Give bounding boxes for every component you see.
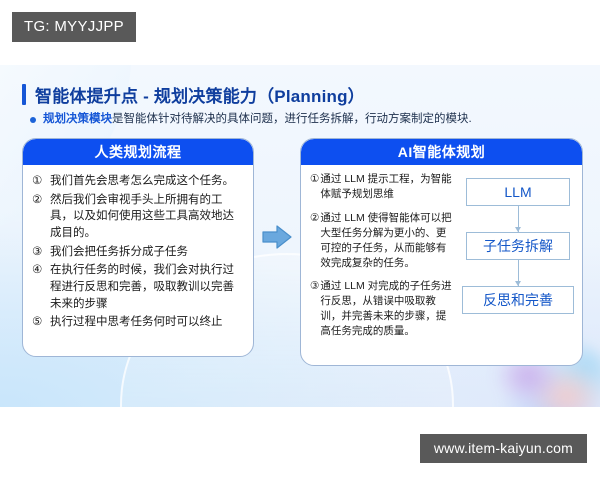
bullet-rest-text: 是智能体针对待解决的具体问题，进行任务拆解，行动方案制定的模块. — [112, 113, 472, 125]
telegram-watermark-badge: TG: MYYJJPP — [12, 12, 136, 42]
right-arrow-icon — [262, 223, 292, 251]
headline-accent-bar — [22, 84, 26, 105]
list-item: ① 我们首先会思考怎么完成这个任务。 — [32, 173, 245, 190]
list-item: ② 通过 LLM 使得智能体可以把大型任务分解为更小的、更可控的子任务，从而能够… — [310, 211, 456, 271]
flow-connector-2 — [518, 260, 519, 286]
list-item-text: 通过 LLM 对完成的子任务进行反思，从错误中吸取教训，并完善未来的步骤，提高任… — [320, 279, 456, 339]
list-item-number: ④ — [32, 262, 47, 279]
slide-bullet-line: 规划决策模块是智能体针对待解决的具体问题，进行任务拆解，行动方案制定的模块. — [30, 112, 472, 126]
ai-agent-steps-column: ① 通过 LLM 提示工程，为智能体赋予规划思维 ② 通过 LLM 使得智能体可… — [310, 172, 456, 348]
bullet-highlight-term: 规划决策模块 — [43, 113, 112, 125]
list-item: ④ 在执行任务的时候，我们会对执行过程进行反思和完善，吸取教训以完善未来的步骤 — [32, 262, 245, 312]
list-item-text: 在执行任务的时候，我们会对执行过程进行反思和完善，吸取教训以完善未来的步骤 — [50, 262, 245, 312]
flow-box-llm: LLM — [466, 178, 570, 206]
list-item-text: 我们首先会思考怎么完成这个任务。 — [50, 173, 245, 190]
list-item-number: ① — [32, 173, 47, 190]
slide-headline: 智能体提升点 - 规划决策能力（Planning） — [22, 82, 365, 107]
headline-text: 智能体提升点 - 规划决策能力（Planning） — [35, 82, 365, 107]
human-planning-card-title: 人类规划流程 — [23, 139, 253, 165]
list-item-text: 通过 LLM 提示工程，为智能体赋予规划思维 — [320, 172, 456, 202]
ai-agent-planning-card: AI智能体规划 ① 通过 LLM 提示工程，为智能体赋予规划思维 ② 通过 LL… — [300, 138, 583, 366]
list-item-text: 执行过程中思考任务何时可以终止 — [50, 314, 245, 331]
list-item: ① 通过 LLM 提示工程，为智能体赋予规划思维 — [310, 172, 456, 202]
list-item-text: 通过 LLM 使得智能体可以把大型任务分解为更小的、更可控的子任务，从而能够有效… — [320, 211, 456, 271]
list-item-number: ① — [310, 172, 319, 187]
list-item-text: 我们会把任务拆分成子任务 — [50, 244, 245, 261]
human-planning-card: 人类规划流程 ① 我们首先会思考怎么完成这个任务。 ② 然后我们会审视手头上所拥… — [22, 138, 254, 357]
ai-agent-planning-card-title: AI智能体规划 — [301, 139, 582, 165]
list-item-text: 然后我们会审视手头上所拥有的工具，以及如何使用这些工具高效地达成目的。 — [50, 192, 245, 242]
bullet-text: 规划决策模块是智能体针对待解决的具体问题，进行任务拆解，行动方案制定的模块. — [43, 112, 472, 126]
flow-box-reflection-refinement: 反思和完善 — [462, 286, 574, 314]
human-planning-card-body: ① 我们首先会思考怎么完成这个任务。 ② 然后我们会审视手头上所拥有的工具，以及… — [23, 165, 253, 339]
list-item-number: ② — [310, 211, 319, 226]
site-watermark-badge: www.item-kaiyun.com — [420, 434, 587, 463]
list-item: ③ 通过 LLM 对完成的子任务进行反思，从错误中吸取教训，并完善未来的步骤，提… — [310, 279, 456, 339]
ai-agent-planning-card-body: ① 通过 LLM 提示工程，为智能体赋予规划思维 ② 通过 LLM 使得智能体可… — [301, 165, 582, 354]
list-item-number: ② — [32, 192, 47, 209]
list-item: ⑤ 执行过程中思考任务何时可以终止 — [32, 314, 245, 331]
list-item-number: ③ — [32, 244, 47, 261]
ai-agent-flow-column: LLM 子任务拆解 反思和完善 — [462, 172, 574, 348]
flow-box-subtask-decomposition: 子任务拆解 — [466, 232, 570, 260]
list-item: ③ 我们会把任务拆分成子任务 — [32, 244, 245, 261]
slide-canvas: 智能体提升点 - 规划决策能力（Planning） 规划决策模块是智能体针对待解… — [0, 65, 600, 407]
list-item: ② 然后我们会审视手头上所拥有的工具，以及如何使用这些工具高效地达成目的。 — [32, 192, 245, 242]
bullet-dot-icon — [30, 117, 36, 123]
flow-connector-1 — [518, 206, 519, 232]
list-item-number: ③ — [310, 279, 319, 294]
list-item-number: ⑤ — [32, 314, 47, 331]
